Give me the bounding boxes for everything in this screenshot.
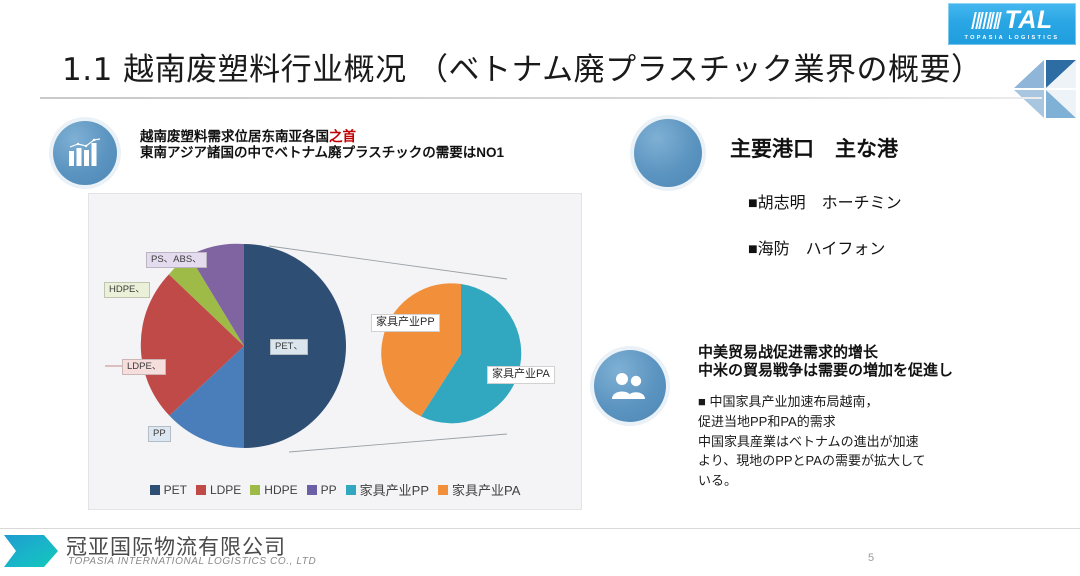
pie-label-pet: PET、 [270, 339, 308, 355]
legend-swatch-furniture-pa [438, 485, 448, 495]
ports-title: 主要港口 主な港 [730, 133, 898, 163]
trade-body-line: ■ 中国家具产业加速布局越南， [698, 392, 926, 412]
pie-chart-graphic [89, 194, 581, 509]
pinwheel-decoration-icon [1014, 58, 1076, 120]
trade-body-line: より、現地のPPとPAの需要が拡大して [698, 451, 926, 471]
company-name-en: TOPASIA INTERNATIONAL LOGISTICS CO., LTD [68, 556, 316, 567]
pie-label-ldpe: LDPE、 [122, 359, 166, 375]
trade-body: ■ 中国家具产业加速布局越南， 促进当地PP和PA的需求 中国家具産業はベトナム… [698, 392, 926, 491]
legend-label-hdpe: HDPE [264, 483, 297, 497]
legend-swatch-furniture-pp [346, 485, 356, 495]
bar-chart-icon [53, 121, 117, 185]
ports-item-haiphong: ■海防 ハイフォン [748, 235, 885, 259]
logo-tagline: TOPASIA LOGISTICS [965, 35, 1060, 41]
legend-item: HDPE [250, 483, 297, 497]
page-number: 5 [868, 552, 874, 564]
logo-bars-icon [971, 12, 1000, 29]
trade-headline: 中美贸易战促进需求的增长 中米の貿易戦争は需要の増加を促進し [698, 344, 953, 381]
logo-wordmark: TAL [1004, 8, 1052, 33]
legend-item: 家具产业PP [346, 480, 429, 499]
legend-swatch-pp [307, 485, 317, 495]
legend-label-furniture-pa: 家具产业PA [452, 480, 520, 499]
legend-label-pp: PP [321, 483, 337, 497]
chart-legend: PET LDPE HDPE PP 家具产业PP 家具产业PA [89, 480, 581, 499]
tal-logo: TAL TOPASIA LOGISTICS [948, 3, 1076, 45]
legend-label-ldpe: LDPE [210, 483, 241, 497]
legend-item: 家具产业PA [438, 480, 520, 499]
pie-label-pp: PP [148, 426, 171, 442]
footer-divider [0, 528, 1080, 529]
ports-circle-icon [634, 119, 702, 187]
demand-headline: 越南废塑料需求位居东南亚各国之首 東南アジア諸国の中でベトナム廃プラスチックの需… [140, 129, 504, 162]
legend-item: PP [307, 483, 337, 497]
legend-label-pet: PET [164, 483, 187, 497]
legend-swatch-ldpe [196, 485, 206, 495]
demand-headline-cn: 越南废塑料需求位居东南亚各国 [140, 129, 329, 144]
legend-label-furniture-pp: 家具产业PP [360, 480, 429, 499]
pie-label-furniture-pa: 家具产业PA [487, 366, 555, 384]
demand-headline-jp: 東南アジア諸国の中でベトナム廃プラスチックの需要はNO1 [140, 145, 504, 161]
legend-item: LDPE [196, 483, 241, 497]
pie-label-ps-abs: PS、ABS、 [146, 252, 207, 268]
slide-canvas: TAL TOPASIA LOGISTICS 1.1 越南废塑料行业概况 （ベトナ… [0, 0, 1080, 575]
legend-swatch-hdpe [250, 485, 260, 495]
company-logo-icon [4, 531, 60, 571]
trade-body-line: いる。 [698, 471, 926, 491]
trade-body-line: 促进当地PP和PA的需求 [698, 412, 926, 432]
trade-headline-jp: 中米の貿易戦争は需要の増加を促進し [698, 362, 953, 380]
pie-label-hdpe: HDPE、 [104, 282, 150, 298]
pie-label-furniture-pp: 家具产业PP [371, 314, 440, 332]
title-divider [40, 97, 1042, 99]
trade-body-line: 中国家具産業はベトナムの進出が加速 [698, 432, 926, 452]
demand-headline-accent: 之首 [329, 129, 356, 144]
people-icon [594, 350, 666, 422]
ports-item-hochiminh: ■胡志明 ホーチミン [748, 189, 902, 213]
legend-swatch-pet [150, 485, 160, 495]
page-title: 1.1 越南废塑料行业概况 （ベトナム廃プラスチック業界の概要） [62, 44, 962, 89]
pie-chart-panel: PET、 PP LDPE、 HDPE、 PS、ABS、 家具产业PP 家具产业P… [88, 193, 582, 510]
legend-item: PET [150, 483, 187, 497]
trade-headline-cn: 中美贸易战促进需求的增长 [698, 344, 953, 362]
